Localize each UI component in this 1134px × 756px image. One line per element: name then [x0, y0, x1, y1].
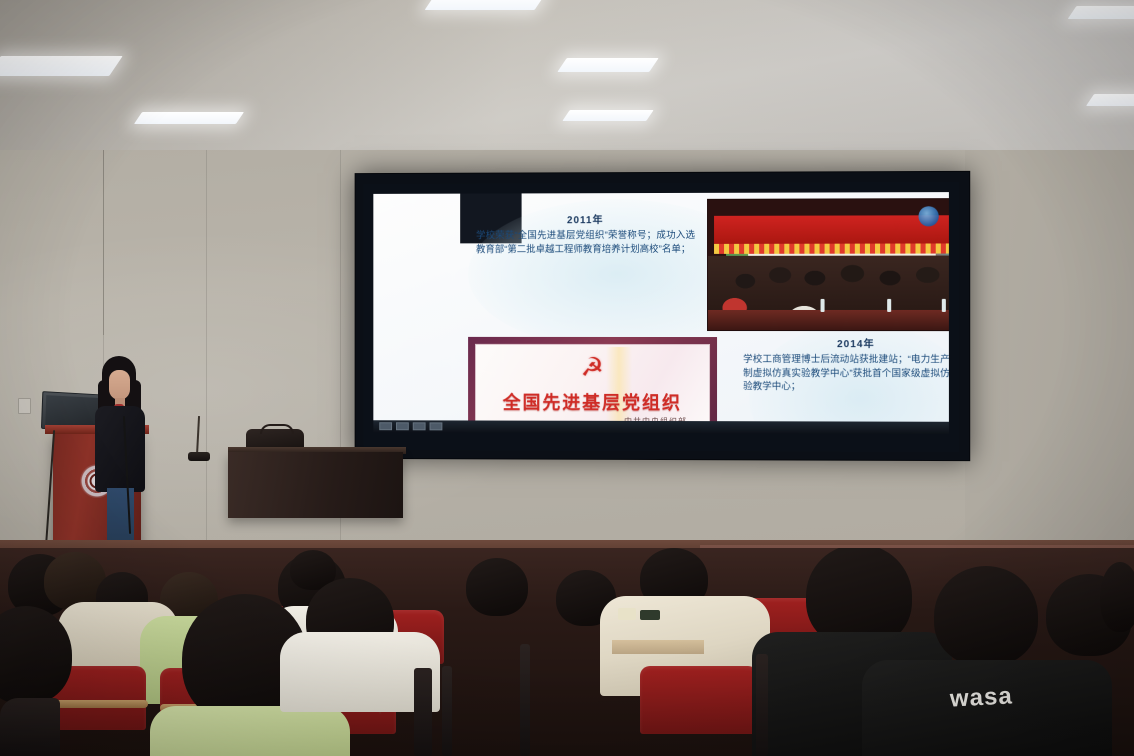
photo-red-banner	[714, 215, 949, 246]
lecture-hall-scene: 2011年 学校荣获“全国先进基层党组织”荣誉称号；成功入选教育部“第二批卓越工…	[0, 0, 1134, 756]
hammer-and-sickle-icon: ☭	[581, 354, 604, 380]
ceiling-light-fixture	[1068, 6, 1134, 19]
ceiling-light-fixture	[562, 110, 653, 121]
presentation-slide[interactable]: 2011年 学校荣获“全国先进基层党组织”荣誉称号；成功入选教育部“第二批卓越工…	[373, 192, 949, 434]
wall-outlet	[18, 398, 31, 414]
conference-photo	[707, 198, 949, 331]
photo-bottle	[942, 299, 946, 312]
seat-armrest	[520, 644, 530, 756]
seat-armrest	[442, 666, 452, 756]
seat-armrest	[756, 654, 768, 756]
wall-cable	[103, 150, 104, 335]
audience-desk	[612, 640, 704, 654]
taskbar-button[interactable]	[379, 422, 392, 430]
slide-year-2011: 2011年	[476, 211, 695, 227]
seat-frame	[414, 668, 432, 756]
audience-head	[1100, 562, 1134, 632]
audience-shoulders	[150, 706, 350, 756]
presenter-face	[109, 370, 130, 400]
photo-bottle	[887, 299, 891, 312]
award-plaque-image: ☭ 全国先进基层党组织 中共中央组织部 二〇一一年七月一日	[468, 337, 717, 434]
photo-banner-trim	[714, 243, 949, 253]
microphone-base	[188, 452, 210, 461]
ceiling-light-fixture	[1086, 94, 1134, 106]
audience-area: 4 wasa	[0, 548, 1134, 756]
presenter-torso	[95, 406, 145, 492]
ceiling-light-fixture	[425, 0, 546, 10]
ceiling-light-fixture	[134, 112, 244, 124]
slide-taskbar[interactable]	[373, 420, 949, 434]
taskbar-button[interactable]	[396, 422, 409, 430]
slide-text-block-2014: 2014年 学校工商管理博士后流动站获批建站；“电力生产与控制虚拟仿真实验教学中…	[743, 335, 949, 394]
slide-body-2014: 学校工商管理博士后流动站获批建站；“电力生产与控制虚拟仿真实验教学中心”获批首个…	[743, 353, 949, 394]
ceiling	[0, 0, 1134, 175]
side-desk	[228, 452, 403, 518]
wall-seam	[206, 150, 207, 580]
ceiling-light-fixture	[557, 58, 658, 72]
photo-front-table	[708, 310, 949, 330]
seat-frame	[0, 698, 60, 756]
presenter	[90, 356, 150, 568]
ledge-object	[640, 610, 660, 620]
taskbar-button[interactable]	[430, 422, 443, 430]
plaque-title: 全国先进基层党组织	[476, 389, 709, 415]
slide-year-2014: 2014年	[743, 335, 949, 350]
auditorium-seat	[640, 666, 758, 734]
screen-inner-bezel: 2011年 学校荣获“全国先进基层党组织”荣誉称号；成功入选教育部“第二批卓越工…	[363, 182, 959, 452]
slide-body-2011: 学校荣获“全国先进基层党组织”荣誉称号；成功入选教育部“第二批卓越工程师教育培养…	[476, 229, 695, 256]
ledge-object	[618, 608, 636, 620]
slide-text-block-2011: 2011年 学校荣获“全国先进基层党组织”荣誉称号；成功入选教育部“第二批卓越工…	[476, 211, 695, 256]
ceiling-shading	[0, 0, 1134, 175]
taskbar-button[interactable]	[413, 422, 426, 430]
right-wall-panel	[965, 150, 1134, 545]
photo-bottle	[821, 299, 825, 312]
projection-screen[interactable]: 2011年 学校荣获“全国先进基层党组织”荣誉称号；成功入选教育部“第二批卓越工…	[355, 171, 971, 461]
slide-logo-icon	[919, 206, 939, 226]
audience-head	[466, 558, 528, 616]
audience-head	[934, 566, 1038, 666]
jacket-logo-text: wasa	[949, 682, 1013, 713]
ceiling-light-fixture	[0, 56, 123, 76]
